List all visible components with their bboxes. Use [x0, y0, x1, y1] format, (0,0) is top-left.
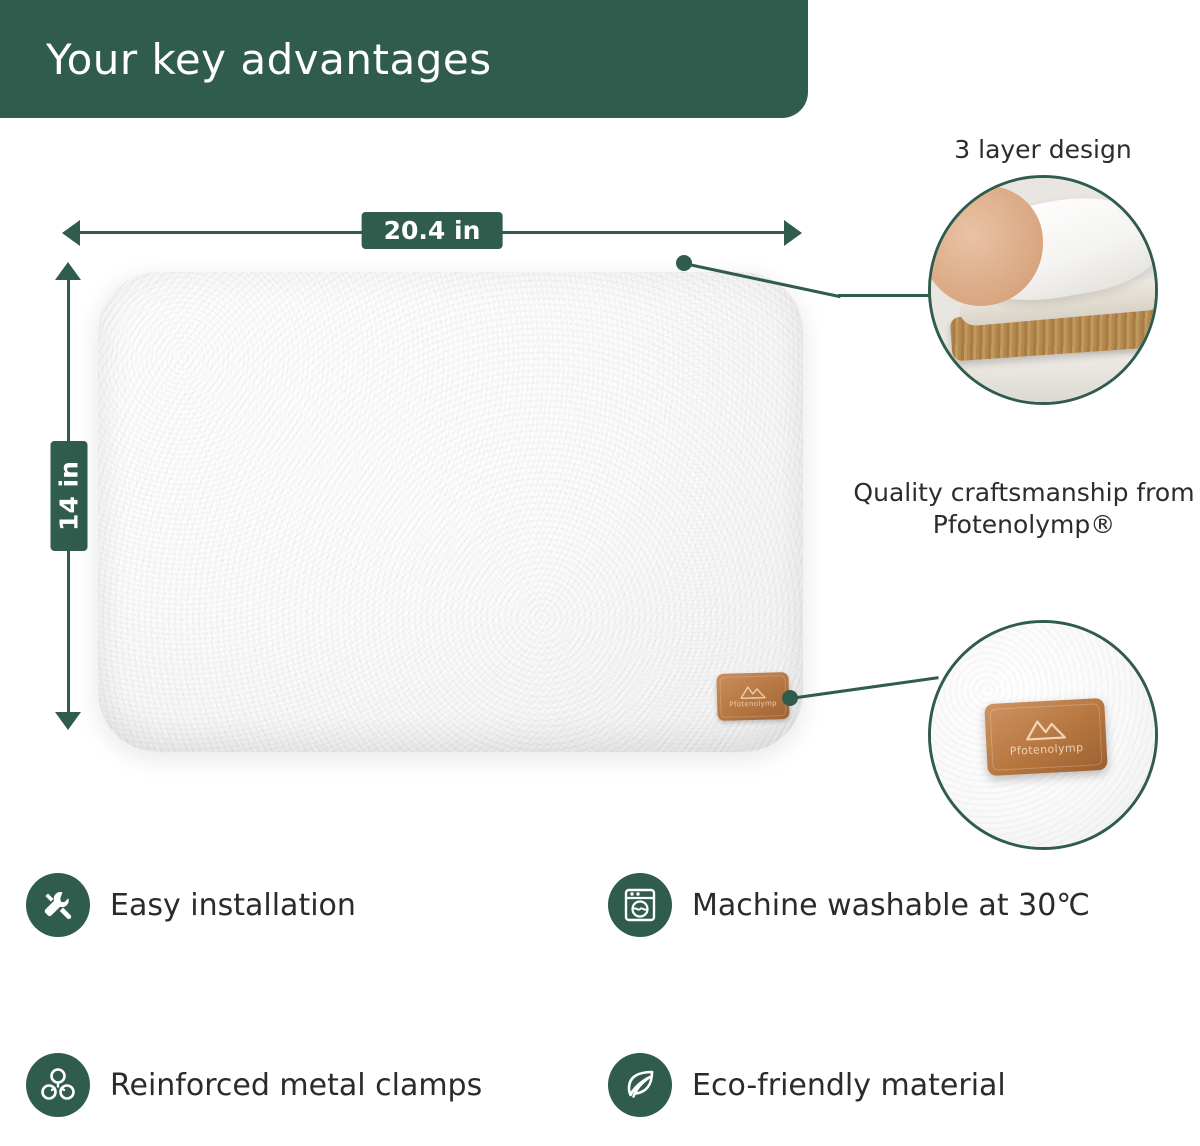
mat-edge-shading	[98, 272, 803, 752]
washing-machine-icon	[608, 873, 672, 937]
page-title: Your key advantages	[0, 35, 492, 84]
callout-image-layers	[928, 175, 1158, 405]
product-brand-tag: Pfotenolymp	[716, 672, 789, 721]
clamps-icon-glyph	[38, 1065, 78, 1105]
height-dimension: 14 in	[44, 262, 94, 730]
leaf-icon-glyph	[621, 1066, 659, 1104]
arrow-up-icon	[55, 262, 81, 280]
tools-icon	[26, 873, 90, 937]
leather-tag: Pfotenolymp	[984, 698, 1108, 776]
feature-label: Easy installation	[110, 888, 356, 923]
leather-tag-border	[989, 703, 1102, 771]
mountain-logo-icon	[739, 685, 767, 700]
layers-base	[931, 354, 1158, 402]
height-dimension-label: 14 in	[51, 441, 88, 551]
arrow-down-icon	[55, 712, 81, 730]
feature-reinforced-clamps: Reinforced metal clamps	[26, 1053, 482, 1117]
arrow-right-icon	[784, 220, 802, 246]
leaf-icon	[608, 1053, 672, 1117]
width-dimension: 20.4 in	[62, 212, 802, 254]
brand-tag-text: Pfotenolymp	[729, 699, 777, 708]
brand-tag-inner: Pfotenolymp	[719, 675, 786, 718]
tools-icon-glyph	[38, 885, 78, 925]
feature-easy-installation: Easy installation	[26, 873, 356, 937]
feature-machine-washable: Machine washable at 30℃	[608, 873, 1090, 937]
clamps-icon	[26, 1053, 90, 1117]
feature-eco-friendly: Eco-friendly material	[608, 1053, 1006, 1117]
callout-title-quality: Quality craftsmanship from Pfotenolymp®	[838, 477, 1200, 541]
brand-tag-photo: Pfotenolymp	[931, 623, 1155, 847]
product-mat-image	[98, 272, 803, 752]
feature-label: Machine washable at 30℃	[692, 888, 1090, 923]
infographic-page: Your key advantages 20.4 in 14 in Pfoten…	[0, 0, 1200, 1146]
leader-line-tag	[790, 676, 939, 700]
feature-label: Reinforced metal clamps	[110, 1068, 482, 1103]
washing-machine-icon-glyph	[621, 886, 659, 924]
arrow-left-icon	[62, 220, 80, 246]
header-banner: Your key advantages	[0, 0, 808, 118]
three-layer-photo	[931, 178, 1155, 402]
callout-title-layers: 3 layer design	[878, 134, 1200, 166]
callout-image-tag: Pfotenolymp	[928, 620, 1158, 850]
width-dimension-label: 20.4 in	[362, 212, 503, 249]
leader-line-layers-b	[838, 294, 934, 297]
feature-label: Eco-friendly material	[692, 1068, 1006, 1103]
